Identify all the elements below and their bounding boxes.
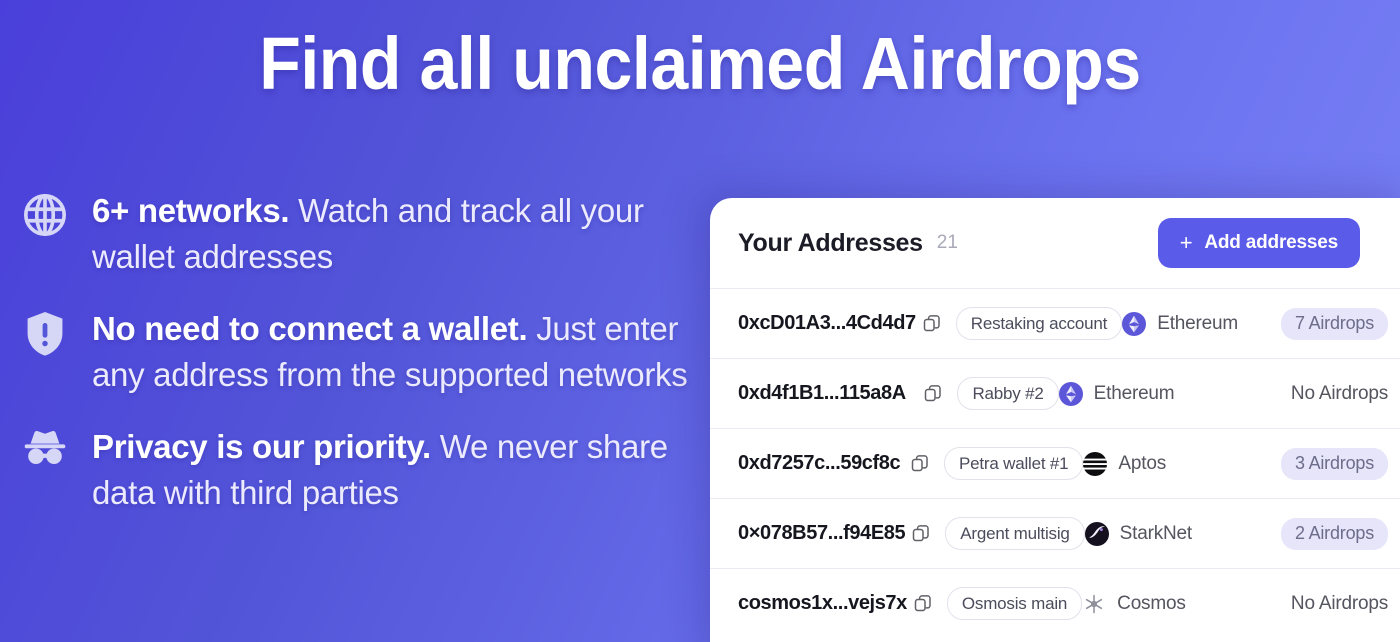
- aptos-icon: [1083, 452, 1107, 476]
- feature-bold-no-wallet: No need to connect a wallet.: [92, 310, 527, 347]
- address-label-tag[interactable]: Restaking account: [956, 307, 1122, 340]
- table-row[interactable]: 0xd7257c...59cf8cPetra wallet #1Aptos3 A…: [710, 428, 1400, 498]
- ethereum-icon: [1059, 382, 1083, 406]
- cosmos-icon: [1082, 592, 1106, 616]
- feature-text-no-wallet: No need to connect a wallet. Just enter …: [92, 306, 710, 398]
- address-count: 21: [937, 232, 958, 254]
- card-header: Your Addresses 21 + Add addresses: [710, 198, 1400, 288]
- feature-item-privacy: Privacy is our priority. We never share …: [20, 424, 710, 516]
- address-label-tag[interactable]: Petra wallet #1: [944, 447, 1083, 480]
- address-label-tag[interactable]: Rabby #2: [957, 377, 1058, 410]
- address-text: 0xd7257c...59cf8c: [738, 452, 904, 475]
- card-title: Your Addresses: [738, 229, 923, 258]
- copy-icon[interactable]: [913, 594, 933, 614]
- ethereum-icon: [1122, 312, 1146, 336]
- table-row[interactable]: 0xcD01A3...4Cd4d7Restaking accountEthere…: [710, 288, 1400, 358]
- copy-icon[interactable]: [923, 384, 943, 404]
- address-text: cosmos1x...vejs7x: [738, 592, 907, 615]
- address-list: 0xcD01A3...4Cd4d7Restaking accountEthere…: [710, 288, 1400, 638]
- table-row[interactable]: 0×078B57...f94E85Argent multisigStarkNet…: [710, 498, 1400, 568]
- airdrops-cell: 2 Airdrops: [1275, 518, 1396, 550]
- copy-icon[interactable]: [911, 524, 931, 544]
- status-badge[interactable]: 3 Airdrops: [1281, 448, 1388, 480]
- feature-item-networks: 6+ networks. Watch and track all your wa…: [20, 188, 710, 280]
- shield-exclamation-icon: [20, 306, 70, 358]
- promo-panel: Find all unclaimed Airdrops 6+ networks.…: [0, 0, 710, 642]
- network-cell: Ethereum: [1059, 382, 1266, 406]
- copy-icon[interactable]: [922, 314, 942, 334]
- add-addresses-button[interactable]: + Add addresses: [1158, 218, 1360, 268]
- starknet-icon: [1085, 522, 1109, 546]
- network-cell: StarkNet: [1085, 522, 1276, 546]
- plus-icon: +: [1180, 232, 1193, 254]
- network-name: StarkNet: [1120, 523, 1192, 545]
- status-badge[interactable]: 7 Airdrops: [1281, 308, 1388, 340]
- page-title: Find all unclaimed Airdrops: [56, 16, 1344, 112]
- network-cell: Aptos: [1083, 452, 1275, 476]
- feature-item-no-wallet: No need to connect a wallet. Just enter …: [20, 306, 710, 398]
- network-cell: Ethereum: [1122, 312, 1281, 336]
- addresses-card: Your Addresses 21 + Add addresses 0xcD01…: [710, 198, 1400, 642]
- table-row[interactable]: 0xd4f1B1...115a8ARabby #2EthereumNo Aird…: [710, 358, 1400, 428]
- airdrops-cell: No Airdrops: [1266, 378, 1396, 410]
- globe-icon: [20, 188, 70, 240]
- feature-bold-privacy: Privacy is our priority.: [92, 428, 431, 465]
- feature-text-privacy: Privacy is our priority. We never share …: [92, 424, 710, 516]
- airdrops-cell: 7 Airdrops: [1281, 308, 1396, 340]
- address-text: 0xcD01A3...4Cd4d7: [738, 312, 916, 335]
- network-cell: Cosmos: [1082, 592, 1274, 616]
- network-name: Ethereum: [1157, 313, 1238, 335]
- feature-list: 6+ networks. Watch and track all your wa…: [20, 188, 710, 542]
- network-name: Cosmos: [1117, 593, 1185, 615]
- address-text: 0xd4f1B1...115a8A: [738, 382, 917, 405]
- incognito-icon: [20, 424, 70, 476]
- address-label-tag[interactable]: Osmosis main: [947, 587, 1082, 620]
- copy-icon[interactable]: [910, 454, 930, 474]
- add-addresses-label: Add addresses: [1204, 232, 1338, 254]
- network-name: Ethereum: [1094, 383, 1175, 405]
- address-text: 0×078B57...f94E85: [738, 522, 905, 545]
- table-row[interactable]: cosmos1x...vejs7xOsmosis mainCosmosNo Ai…: [710, 568, 1400, 638]
- airdrops-cell: No Airdrops: [1274, 588, 1396, 620]
- feature-bold-networks: 6+ networks.: [92, 192, 289, 229]
- status-badge[interactable]: 2 Airdrops: [1281, 518, 1388, 550]
- airdrops-cell: 3 Airdrops: [1275, 448, 1396, 480]
- no-airdrops-text: No Airdrops: [1291, 378, 1388, 410]
- feature-text-networks: 6+ networks. Watch and track all your wa…: [92, 188, 710, 280]
- address-label-tag[interactable]: Argent multisig: [945, 517, 1084, 550]
- no-airdrops-text: No Airdrops: [1291, 588, 1388, 620]
- network-name: Aptos: [1118, 453, 1166, 475]
